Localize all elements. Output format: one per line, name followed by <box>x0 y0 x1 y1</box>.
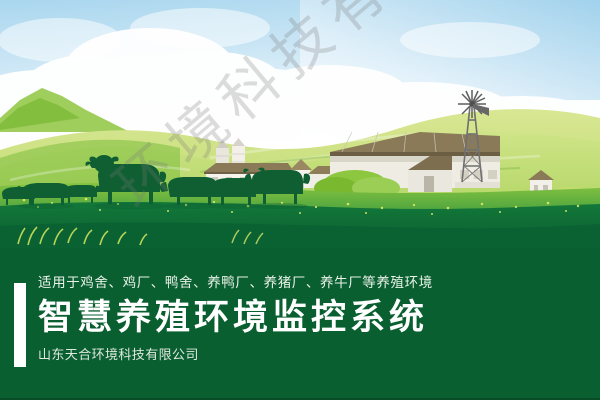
landscape-svg <box>0 0 600 249</box>
title-band: 适用于鸡舍、鸡厂、鸭舍、养鸭厂、养猪厂、养牛厂等养殖环境 智慧养殖环境监控系统 … <box>0 248 600 400</box>
subtitle-text: 适用于鸡舍、鸡厂、鸭舍、养鸭厂、养猪厂、养牛厂等养殖环境 <box>38 274 586 292</box>
farm-landscape-illustration: 环境科技有限公司 <box>0 0 600 249</box>
text-stack: 适用于鸡舍、鸡厂、鸭舍、养鸭厂、养猪厂、养牛厂等养殖环境 智慧养殖环境监控系统 … <box>38 274 586 364</box>
page-title: 智慧养殖环境监控系统 <box>38 294 586 342</box>
accent-bar <box>14 283 26 367</box>
company-name: 山东天合环境科技有限公司 <box>38 346 586 364</box>
promotional-banner: 环境科技有限公司 适用于鸡舍、鸡厂、鸭舍、养鸭厂、养猪厂、养牛厂等养殖环境 智慧… <box>0 0 600 400</box>
